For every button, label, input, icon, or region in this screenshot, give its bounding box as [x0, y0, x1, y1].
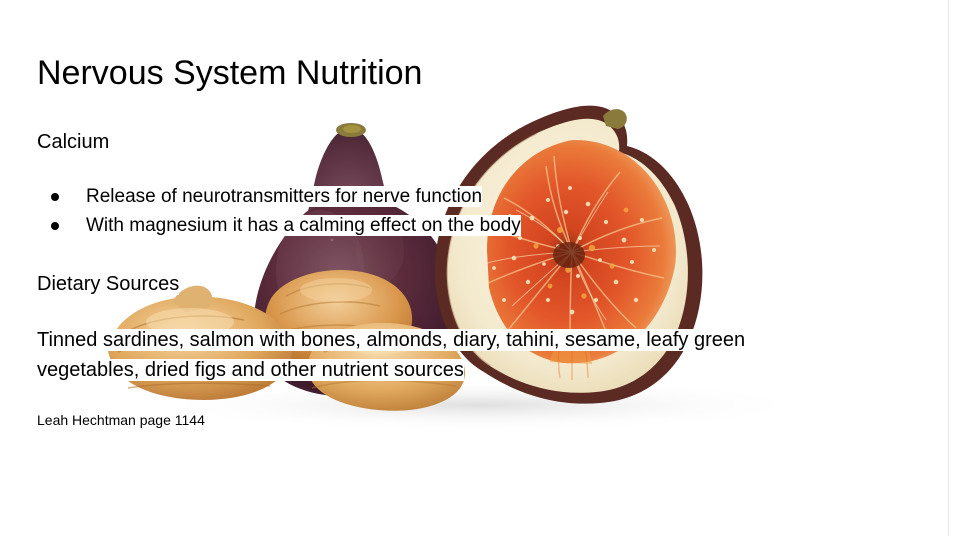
citation-text: Leah Hechtman page 1144: [37, 412, 205, 428]
bullet-dot-icon: [51, 193, 59, 201]
paragraph-line-text: vegetables, dried figs and other nutrien…: [37, 359, 464, 381]
citation: Leah Hechtman page 1144: [37, 410, 205, 430]
paragraph-line: vegetables, dried figs and other nutrien…: [37, 355, 927, 385]
slide-text-layer: Nervous System Nutrition Calcium Release…: [0, 0, 960, 536]
subheading-dietary-sources-text: Dietary Sources: [37, 273, 179, 295]
right-edge-rule: [948, 0, 949, 536]
paragraph-line: Tinned sardines, salmon with bones, almo…: [37, 325, 927, 355]
list-item-label: Release of neurotransmitters for nerve f…: [86, 186, 482, 207]
subheading-calcium: Calcium: [37, 128, 109, 156]
list-item-label: With magnesium it has a calming effect o…: [86, 215, 521, 236]
bullet-dot-icon: [51, 222, 59, 230]
subheading-dietary-sources: Dietary Sources: [37, 270, 179, 298]
page-title: Nervous System Nutrition: [37, 52, 422, 94]
slide-canvas: Nervous System Nutrition Calcium Release…: [0, 0, 960, 536]
dietary-sources-paragraph: Tinned sardines, salmon with bones, almo…: [37, 325, 927, 385]
page-title-text: Nervous System Nutrition: [37, 54, 422, 92]
subheading-calcium-text: Calcium: [37, 131, 109, 153]
list-item: Release of neurotransmitters for nerve f…: [44, 182, 521, 211]
paragraph-line-text: Tinned sardines, salmon with bones, almo…: [37, 329, 745, 351]
calcium-bullet-list: Release of neurotransmitters for nerve f…: [44, 182, 521, 240]
list-item: With magnesium it has a calming effect o…: [44, 211, 521, 240]
